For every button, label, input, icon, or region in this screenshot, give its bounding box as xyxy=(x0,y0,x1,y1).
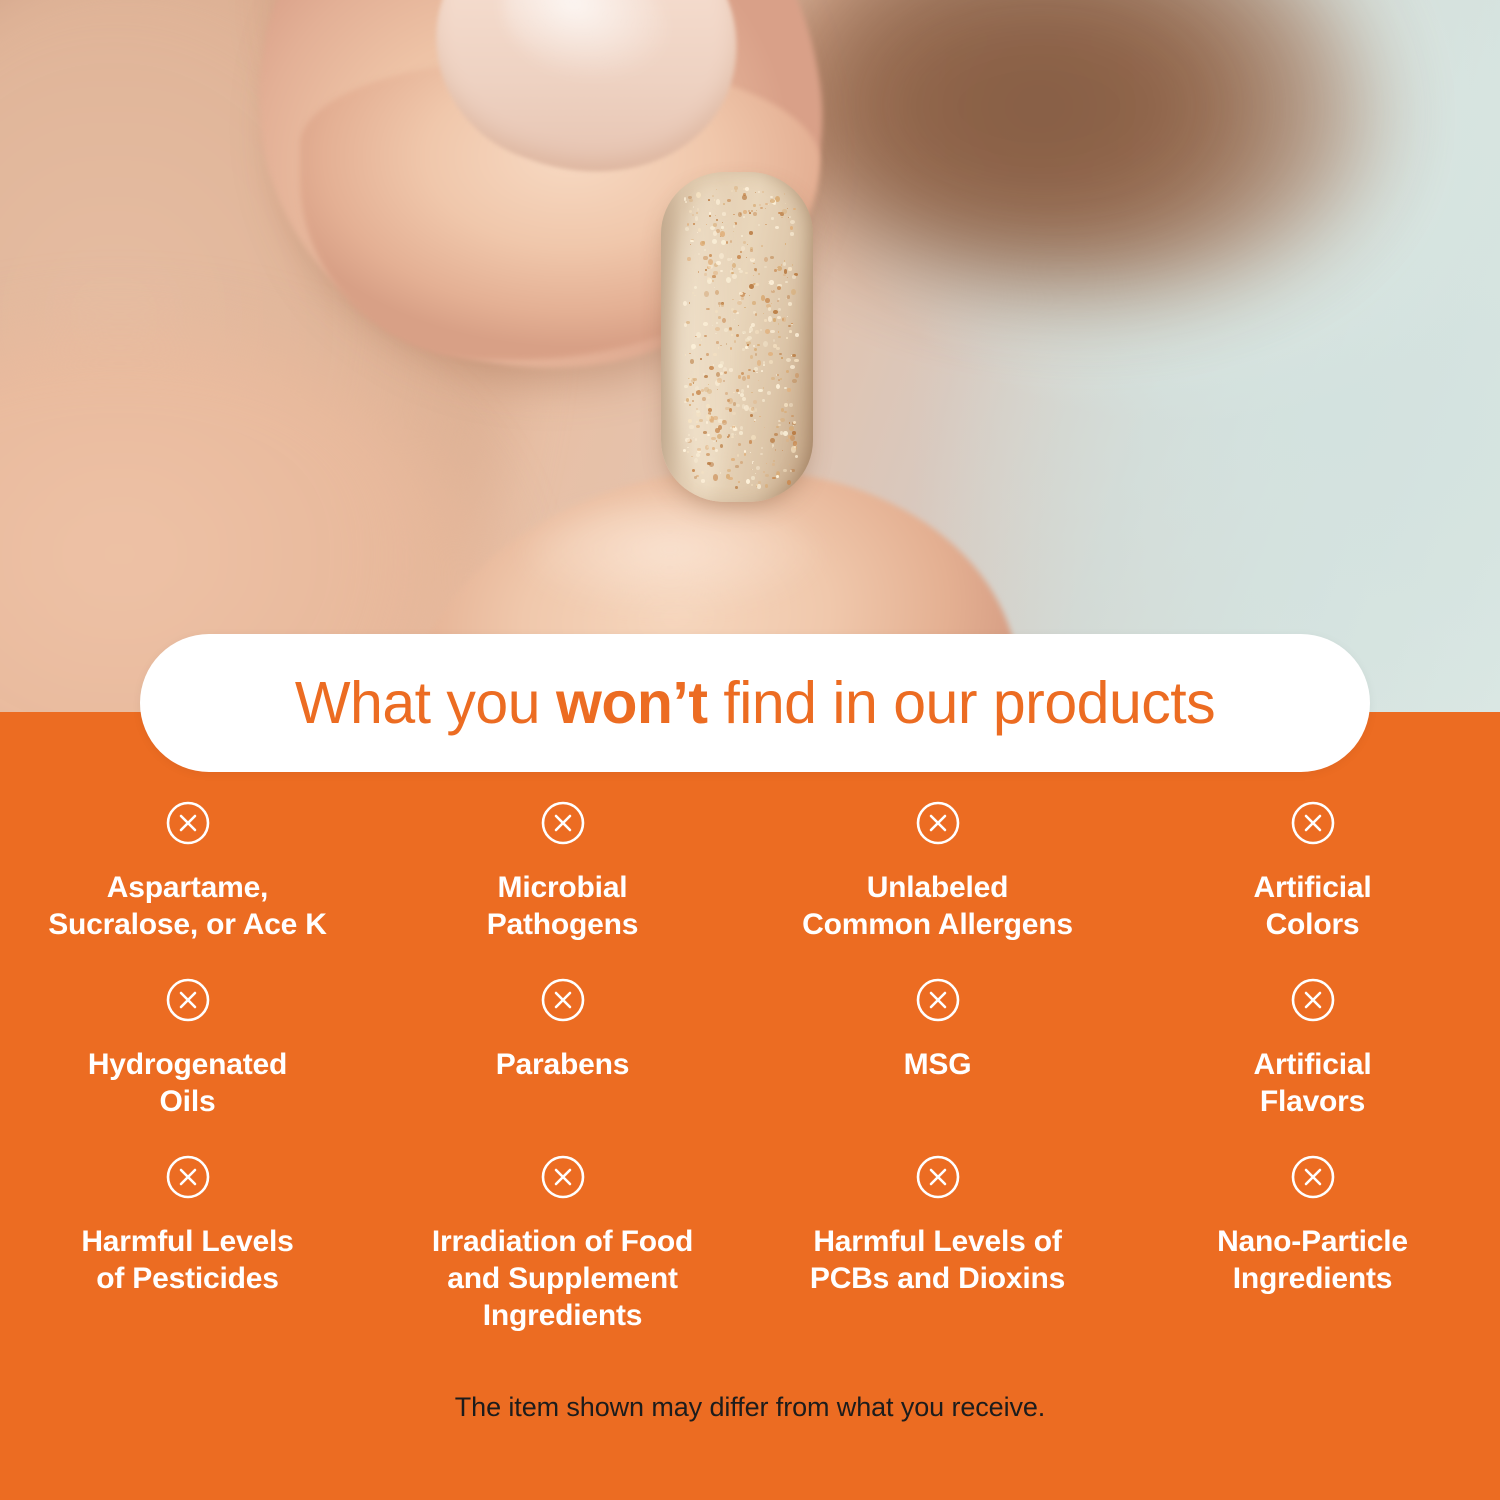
tablet-speckle xyxy=(760,207,763,210)
exclusion-item: MSG xyxy=(750,977,1125,1120)
tablet-speckle xyxy=(704,273,707,276)
exclusion-item-label: Irradiation of Food and Supplement Ingre… xyxy=(432,1224,693,1334)
tablet-speckle xyxy=(778,379,781,381)
tablet-speckle xyxy=(712,239,717,244)
tablet-speckle xyxy=(715,449,718,452)
tablet-speckle xyxy=(763,364,765,366)
tablet-speckle xyxy=(780,378,782,380)
tablet-speckle xyxy=(790,232,794,235)
tablet-speckle xyxy=(768,307,771,311)
tablet-speckle xyxy=(770,256,774,259)
tablet-speckle xyxy=(759,204,761,206)
tablet-speckle xyxy=(727,199,731,202)
tablet-speckle xyxy=(768,316,772,322)
tablet-speckle xyxy=(704,291,709,297)
tablet-speckle xyxy=(718,347,720,349)
tablet-speckle xyxy=(703,431,707,434)
tablet-speckle xyxy=(791,289,796,295)
exclusion-item-label: Aspartame, Sucralose, or Ace K xyxy=(48,870,327,943)
tablet-speckle xyxy=(742,331,746,334)
tablet-speckle xyxy=(781,357,783,359)
photo-blur-dark-right xyxy=(760,0,1380,300)
tablet-speckle xyxy=(750,414,753,417)
tablet-speckle xyxy=(742,195,747,200)
tablet-speckle xyxy=(758,191,760,193)
tablet-speckle xyxy=(758,224,761,226)
exclusion-item-label: MSG xyxy=(904,1047,972,1084)
tablet-speckle xyxy=(775,449,777,451)
tablet-speckle xyxy=(789,330,792,333)
tablet-speckle xyxy=(792,275,796,279)
circle-x-icon xyxy=(1290,800,1336,846)
tablet-speckle xyxy=(743,210,747,214)
tablet-speckle xyxy=(696,192,701,198)
tablet-speckle xyxy=(777,316,782,319)
tablet-speckle xyxy=(776,426,778,428)
tablet-speckle xyxy=(764,319,768,322)
tablet-speckle xyxy=(739,270,744,273)
tablet-speckle xyxy=(703,373,706,376)
tablet-speckle xyxy=(696,421,698,423)
tablet-speckle xyxy=(722,420,727,425)
tablet-speckle xyxy=(731,190,733,191)
tablet-speckle xyxy=(689,425,694,428)
tablet-speckle xyxy=(764,257,768,262)
tablet-speckle xyxy=(795,333,799,337)
exclusions-grid: Aspartame, Sucralose, or Ace KMicrobial … xyxy=(0,800,1500,1334)
tablet-speckle xyxy=(722,212,727,216)
tablet-speckle xyxy=(761,245,763,247)
tablet-speckle xyxy=(789,422,790,423)
tablet-speckle xyxy=(718,316,721,319)
tablet-speckle xyxy=(721,226,724,229)
headline-part1: What you xyxy=(295,670,556,736)
tablet-speckle xyxy=(720,361,724,365)
tablet-speckle xyxy=(749,212,751,214)
tablet-speckle xyxy=(749,284,753,289)
tablet-speckle xyxy=(789,464,790,465)
tablet-speckle xyxy=(793,421,796,424)
tablet-speckle xyxy=(790,365,795,369)
finger-highlight xyxy=(520,500,820,610)
tablet-speckle xyxy=(717,378,721,383)
tablet-speckle xyxy=(767,391,771,395)
tablet-speckle xyxy=(792,379,797,383)
tablet-speckle xyxy=(773,339,775,342)
tablet-speckle xyxy=(713,231,717,235)
tablet-speckle xyxy=(782,209,787,213)
tablet-speckle xyxy=(747,244,748,245)
exclusion-item: Microbial Pathogens xyxy=(375,800,750,943)
tablet-speckle xyxy=(763,341,768,347)
tablet-speckle xyxy=(735,486,738,489)
tablet-speckle xyxy=(763,313,764,314)
tablet-speckle xyxy=(706,453,710,456)
tablet-speckle xyxy=(703,256,708,261)
tablet-speckle xyxy=(765,329,770,335)
tablet-speckle xyxy=(751,484,753,486)
exclusion-item-label: Hydrogenated Oils xyxy=(88,1047,287,1120)
tablet-speckle xyxy=(761,295,765,300)
tablet-speckle xyxy=(778,308,781,311)
tablet-speckle xyxy=(756,372,758,374)
tablet-speckle xyxy=(741,246,746,251)
tablet-speckle xyxy=(769,360,773,365)
tablet-speckle xyxy=(723,380,725,382)
exclusion-item-label: Artificial Colors xyxy=(1253,870,1371,943)
tablet-speckle xyxy=(747,375,751,378)
tablet-speckle xyxy=(728,477,733,481)
tablet-speckle xyxy=(706,404,710,408)
tablet-speckle xyxy=(743,241,747,244)
tablet-speckle xyxy=(751,476,755,480)
tablet-speckle xyxy=(698,228,702,232)
product-photo xyxy=(0,0,1500,712)
tablet-speckle xyxy=(773,310,778,314)
tablet-speckle xyxy=(786,337,788,339)
tablet-speckle xyxy=(787,277,788,278)
tablet-speckle xyxy=(787,400,788,402)
tablet-speckle xyxy=(693,437,694,438)
tablet-speckle xyxy=(768,352,773,356)
tablet-speckle xyxy=(709,366,714,370)
circle-x-icon xyxy=(915,977,961,1023)
tablet-speckle xyxy=(754,367,757,371)
tablet-speckle xyxy=(707,446,709,448)
tablet-speckle xyxy=(778,331,780,333)
tablet-speckle xyxy=(768,204,769,205)
tablet-speckle xyxy=(744,453,747,456)
tablet-speckle xyxy=(790,435,795,441)
circle-x-icon xyxy=(915,800,961,846)
tablet-speckle xyxy=(772,447,773,448)
tablet-speckle xyxy=(763,471,765,473)
tablet-speckle xyxy=(794,359,799,363)
tablet-speckle xyxy=(729,368,734,371)
tablet-speckle xyxy=(784,193,785,194)
tablet-speckle xyxy=(734,319,735,320)
tablet-speckle xyxy=(740,461,743,464)
tablet-speckle xyxy=(753,204,756,208)
tablet-speckle xyxy=(765,208,766,209)
tablet-speckle xyxy=(788,325,791,327)
tablet-speckle xyxy=(790,220,795,225)
circle-x-icon xyxy=(540,800,586,846)
tablet-speckle xyxy=(750,452,751,453)
circle-x-icon xyxy=(540,977,586,1023)
tablet-speckle xyxy=(741,297,745,300)
tablet-speckle xyxy=(754,348,757,351)
headline-emphasis: won’t xyxy=(556,670,708,736)
tablet-speckle xyxy=(762,399,765,403)
tablet-speckle xyxy=(784,411,787,413)
tablet-speckle xyxy=(756,466,760,471)
tablet-speckle xyxy=(765,484,768,487)
tablet-speckle xyxy=(786,370,789,373)
tablet-speckle xyxy=(733,214,735,215)
tablet-speckle xyxy=(739,431,743,435)
tablet-speckle xyxy=(780,418,785,422)
tablet-speckle xyxy=(738,325,740,327)
tablet-speckle xyxy=(760,453,763,455)
tablet-speckle xyxy=(750,355,753,359)
headline-part2: find in our products xyxy=(707,670,1215,736)
tablet-speckle xyxy=(761,447,764,450)
tablet-speckle xyxy=(704,335,706,337)
circle-x-icon xyxy=(540,1154,586,1200)
tablet-speckle xyxy=(730,240,732,243)
tablet-speckle xyxy=(783,274,785,276)
tablet-speckle xyxy=(711,437,716,441)
exclusion-item: Artificial Flavors xyxy=(1125,977,1500,1120)
tablet-speckle xyxy=(789,426,794,431)
tablet-speckle xyxy=(694,295,695,296)
tablet-speckle xyxy=(742,376,746,381)
tablet-speckle xyxy=(788,267,791,270)
tablet-speckle xyxy=(741,372,744,375)
tablet-speckle xyxy=(727,436,729,437)
tablet-speckle xyxy=(775,226,779,229)
tablet-speckle xyxy=(777,286,781,290)
tablet-speckle xyxy=(694,476,697,479)
tablet-speckle xyxy=(738,443,741,446)
exclusion-item-label: Parabens xyxy=(496,1047,629,1084)
tablet-speckle xyxy=(764,427,766,429)
circle-x-icon xyxy=(915,1154,961,1200)
tablet-speckle xyxy=(752,301,756,305)
tablet-speckle xyxy=(733,225,736,228)
tablet-speckle xyxy=(771,217,775,220)
tablet-speckle xyxy=(755,330,759,334)
tablet-speckle xyxy=(759,416,760,417)
tablet-speckle xyxy=(792,264,794,266)
tablet-speckle xyxy=(744,405,749,411)
tablet-speckle xyxy=(795,373,799,378)
exclusion-item: Harmful Levels of Pesticides xyxy=(0,1154,375,1334)
tablet-speckle xyxy=(765,224,767,226)
tablet-speckle xyxy=(730,347,732,349)
tablet-speckle xyxy=(786,439,790,442)
tablet-speckle xyxy=(785,281,788,283)
tablet-speckle xyxy=(727,469,731,473)
tablet-speckle xyxy=(765,298,770,303)
tablet-speckle xyxy=(700,358,702,360)
tablet-speckle xyxy=(757,344,760,346)
tablet-speckle xyxy=(725,392,728,395)
tablet-speckle xyxy=(770,330,775,334)
tablet-speckle xyxy=(787,480,792,485)
exclusion-item: Aspartame, Sucralose, or Ace K xyxy=(0,800,375,943)
tablet-speckle xyxy=(712,195,715,197)
tablet-speckle xyxy=(774,433,778,436)
tablet-speckle xyxy=(706,353,709,356)
tablet-speckle xyxy=(738,481,740,483)
tablet-speckle xyxy=(774,269,777,273)
tablet-speckle xyxy=(753,275,754,276)
tablet-speckle xyxy=(793,208,796,210)
tablet-speckle xyxy=(751,435,756,440)
tablet-speckle xyxy=(737,255,741,259)
tablet-speckle xyxy=(754,421,755,422)
tablet-speckle xyxy=(684,385,688,388)
tablet-speckle xyxy=(778,298,780,300)
tablet-speckle xyxy=(746,479,750,484)
tablet-speckle xyxy=(695,438,697,440)
tablet-speckle xyxy=(787,388,791,392)
tablet-speckle xyxy=(784,403,788,407)
tablet-speckle xyxy=(741,389,745,393)
exclusion-item-label: Unlabeled Common Allergens xyxy=(802,870,1073,943)
tablet-speckle xyxy=(693,223,694,224)
tablet-speckle xyxy=(789,403,793,407)
tablet-speckle xyxy=(737,454,740,457)
tablet-speckle xyxy=(707,277,710,279)
circle-x-icon xyxy=(165,800,211,846)
tablet-speckle xyxy=(751,392,753,394)
tablet-speckle xyxy=(753,212,757,216)
tablet-speckle xyxy=(738,392,740,394)
tablet-speckle xyxy=(684,323,687,327)
tablet-speckle xyxy=(683,301,687,306)
tablet-speckle xyxy=(745,272,748,274)
tablet-speckle xyxy=(708,408,713,412)
tablet-speckle xyxy=(776,384,780,389)
tablet-speckle xyxy=(696,410,700,413)
tablet-speckle xyxy=(717,434,722,439)
tablet-speckle xyxy=(712,325,714,326)
tablet-speckle xyxy=(745,338,750,342)
tablet-speckle xyxy=(686,321,690,324)
tablet-speckle xyxy=(764,266,767,268)
tablet-speckle xyxy=(778,212,781,214)
tablet-speckle xyxy=(755,408,758,412)
tablet-speckle xyxy=(696,332,701,338)
tablet-speckle xyxy=(742,397,746,401)
tablet-speckle xyxy=(792,354,795,357)
page-title: What you won’t find in our products xyxy=(295,674,1215,733)
exclusion-item: Unlabeled Common Allergens xyxy=(750,800,1125,943)
circle-x-icon xyxy=(1290,977,1336,1023)
tablet-speckle xyxy=(731,458,735,461)
tablet-speckle xyxy=(790,226,793,230)
tablet-speckle xyxy=(769,280,774,284)
tablet-speckle xyxy=(785,203,786,204)
tablet-speckle xyxy=(699,344,701,345)
headline-card: What you won’t find in our products xyxy=(140,634,1370,772)
disclaimer-text: The item shown may differ from what you … xyxy=(0,1392,1500,1423)
tablet-speckle xyxy=(736,334,739,338)
tablet-speckle xyxy=(791,324,793,326)
tablet-speckle xyxy=(735,190,737,192)
tablet-speckle xyxy=(685,201,687,203)
tablet-speckle xyxy=(789,216,790,218)
tablet-speckle xyxy=(715,428,720,433)
tablet-speckle xyxy=(706,308,709,311)
tablet-speckle xyxy=(689,404,691,405)
tablet-speckle xyxy=(749,327,753,332)
tablet-speckle xyxy=(738,212,742,217)
tablet-speckle xyxy=(753,263,754,264)
tablet-speckle xyxy=(758,389,763,392)
tablet-speckle xyxy=(765,474,769,477)
tablet-speckle xyxy=(770,438,775,444)
tablet-speckle xyxy=(738,375,741,379)
tablet-speckle xyxy=(710,419,714,423)
tablet-speckle xyxy=(685,438,689,443)
exclusion-item: Artificial Colors xyxy=(1125,800,1500,943)
tablet-speckle xyxy=(757,360,762,366)
tablet-speckle xyxy=(707,396,709,399)
tablet-speckle xyxy=(758,380,759,381)
tablet-speckle xyxy=(763,387,765,389)
tablet-speckle xyxy=(716,199,721,205)
tablet-speckle xyxy=(713,416,718,421)
tablet-speckle xyxy=(687,447,689,448)
tablet-speckle xyxy=(731,433,734,436)
exclusion-item: Parabens xyxy=(375,977,750,1120)
tablet-speckle xyxy=(783,262,786,266)
tablet-speckle xyxy=(771,377,775,381)
tablet-speckle xyxy=(752,462,754,464)
tablet-speckle xyxy=(695,216,699,221)
exclusion-item-label: Harmful Levels of Pesticides xyxy=(81,1224,293,1297)
tablet-speckle xyxy=(721,303,724,307)
tablet-speckle xyxy=(753,345,755,347)
exclusion-item-label: Nano-Particle Ingredients xyxy=(1217,1224,1408,1297)
tablet-speckle xyxy=(782,317,786,321)
tablet-speckle xyxy=(773,318,776,321)
tablet-speckle xyxy=(788,302,793,306)
tablet-speckle xyxy=(755,353,757,355)
tablet-speckle xyxy=(741,235,743,238)
tablet-speckle xyxy=(791,446,796,452)
circle-x-icon xyxy=(165,977,211,1023)
tablet-speckle xyxy=(758,273,760,275)
tablet-speckle xyxy=(732,412,736,416)
tablet-speckle xyxy=(762,191,764,193)
tablet-speckle xyxy=(755,313,758,317)
tablet-speckle xyxy=(787,208,789,209)
tablet-speckle xyxy=(713,353,716,356)
tablet-speckle xyxy=(755,192,756,193)
exclusion-item: Nano-Particle Ingredients xyxy=(1125,1154,1500,1334)
tablet-speckle xyxy=(716,229,719,233)
tablet-speckle xyxy=(787,316,789,318)
tablet-speckle xyxy=(753,400,757,404)
tablet-speckle xyxy=(691,348,693,350)
tablet-speckle xyxy=(742,348,745,351)
tablet-speckle xyxy=(697,208,699,210)
tablet-speckle xyxy=(782,450,783,451)
tablet-speckle xyxy=(779,353,782,355)
tablet-speckle xyxy=(726,241,729,244)
tablet-speckle xyxy=(766,463,767,464)
tablet-speckle xyxy=(785,243,786,244)
exclusion-item: Irradiation of Food and Supplement Ingre… xyxy=(375,1154,750,1334)
tablet-speckle xyxy=(735,465,738,468)
tablet-speckle xyxy=(761,370,763,372)
tablet-speckle xyxy=(790,470,792,473)
tablet-speckle xyxy=(716,341,719,344)
tablet-speckle xyxy=(770,196,773,198)
exclusion-item-label: Artificial Flavors xyxy=(1253,1047,1371,1120)
tablet-speckle xyxy=(744,307,746,309)
tablet-speckle xyxy=(768,283,769,284)
supplement-tablet xyxy=(661,172,813,502)
tablet-speckle xyxy=(697,232,698,234)
tablet-speckle xyxy=(709,254,712,257)
tablet-speckle xyxy=(743,216,745,218)
